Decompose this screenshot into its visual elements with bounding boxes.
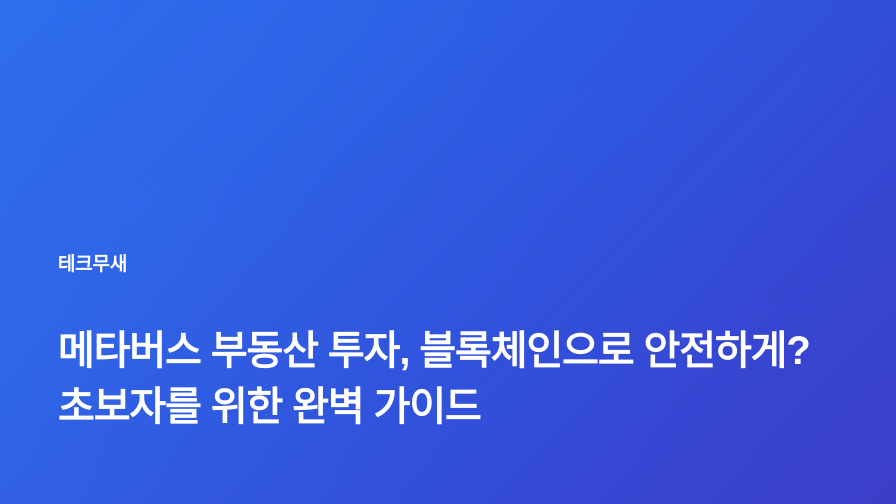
blog-thumbnail-banner: 테크무새 메타버스 부동산 투자, 블록체인으로 안전하게? 초보자를 위한 완…: [0, 0, 896, 504]
blog-name-kicker: 테크무새: [58, 252, 840, 278]
page-title: 메타버스 부동산 투자, 블록체인으로 안전하게? 초보자를 위한 완벽 가이드: [58, 278, 833, 435]
banner-text-block: 테크무새 메타버스 부동산 투자, 블록체인으로 안전하게? 초보자를 위한 완…: [58, 252, 840, 435]
